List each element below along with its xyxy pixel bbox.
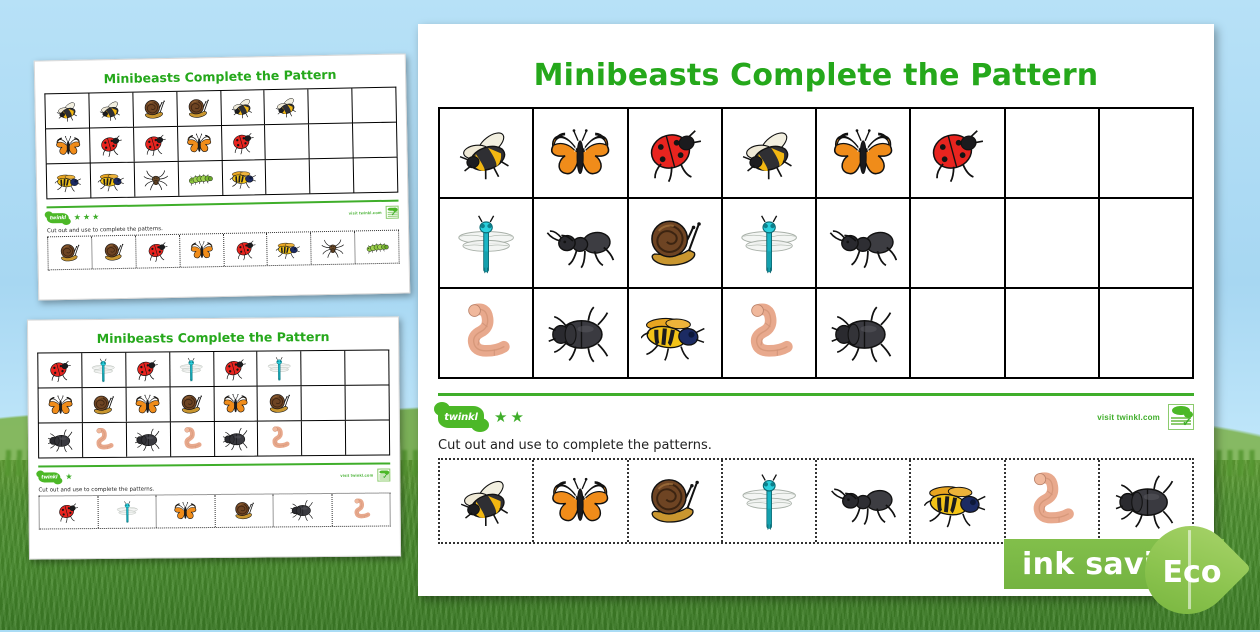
ant-icon <box>830 468 896 534</box>
wasp-icon <box>228 163 260 191</box>
pattern-cell-dragonfly[interactable] <box>723 199 817 287</box>
thumbnail-2-footer: twinkl ★ visit twinkl.com ✓ <box>38 467 390 484</box>
twinkl-logo: twinkl <box>47 213 69 223</box>
butterfly-icon <box>186 237 217 263</box>
pattern-cell-empty[interactable] <box>265 124 310 159</box>
pattern-row <box>44 87 397 129</box>
cutout-cell-bee[interactable] <box>440 460 534 542</box>
beetle-icon <box>546 297 614 369</box>
twinkl-logo-text: twinkl <box>50 215 66 221</box>
snail-icon <box>139 95 171 123</box>
worm-icon <box>264 424 296 452</box>
wasp-icon <box>52 167 84 195</box>
pattern-cell-beetle[interactable] <box>817 289 911 377</box>
pattern-row <box>38 384 390 422</box>
snail-icon <box>223 498 265 524</box>
butterfly-icon <box>165 498 207 524</box>
pattern-row <box>38 419 390 458</box>
pattern-cell-spider[interactable] <box>134 162 179 197</box>
twinkl-logo-text: twinkl <box>444 412 477 423</box>
pattern-cell-ladybird[interactable] <box>126 352 170 386</box>
pattern-cell-ant[interactable] <box>817 199 911 287</box>
snail-icon <box>183 94 215 122</box>
bee-icon <box>226 93 258 121</box>
cut-instruction: Cut out and use to complete the patterns… <box>438 438 1194 453</box>
pattern-cell-empty[interactable] <box>309 123 354 158</box>
pattern-cell-snail[interactable] <box>177 91 222 126</box>
pattern-cell-butterfly[interactable] <box>39 388 83 422</box>
worm-icon <box>735 297 803 369</box>
pattern-cell-ladybird[interactable] <box>222 125 267 160</box>
footer-divider <box>438 393 1194 396</box>
thumbnail-2-pattern-grid <box>37 349 390 458</box>
ant-icon <box>546 207 614 279</box>
pattern-cell-empty[interactable] <box>346 385 389 419</box>
pattern-cell-snail[interactable] <box>82 388 126 422</box>
footer-divider <box>38 462 390 467</box>
pattern-cell-dragonfly[interactable] <box>170 352 214 386</box>
pattern-cell-empty[interactable] <box>911 289 1005 377</box>
bee-icon <box>51 97 83 125</box>
bee-icon <box>270 93 302 121</box>
snail-icon <box>641 468 707 534</box>
caterpillar-icon <box>184 164 216 192</box>
pattern-cell-empty[interactable] <box>354 158 398 193</box>
butterfly-icon <box>44 391 76 419</box>
butterfly-icon <box>52 132 84 160</box>
main-footer: twinkl ★★ visit twinkl.com ✓ <box>438 402 1194 432</box>
worm-icon <box>1018 468 1084 534</box>
pattern-cell-butterfly[interactable] <box>126 387 170 421</box>
pattern-cell-bee[interactable] <box>89 93 134 128</box>
snail-icon <box>176 390 208 418</box>
main-worksheet[interactable]: Minibeasts Complete the Pattern <box>418 24 1214 596</box>
pattern-cell-dragonfly[interactable] <box>82 353 126 387</box>
pattern-row <box>37 349 389 387</box>
cutout-cell-ladybird[interactable] <box>40 496 99 529</box>
dragonfly-icon <box>88 356 120 384</box>
twinkl-logo-text: twinkl <box>41 474 57 480</box>
pattern-cell-beetle[interactable] <box>534 289 628 377</box>
pattern-cell-empty[interactable] <box>309 88 354 123</box>
pattern-cell-butterfly[interactable] <box>214 387 258 421</box>
pattern-cell-ladybird[interactable] <box>214 352 258 386</box>
ladybird-icon <box>227 128 259 156</box>
snail-icon <box>264 389 296 417</box>
bee-icon <box>735 117 803 189</box>
ant-icon <box>829 207 897 279</box>
twinkl-approved-badge: ✓ <box>377 468 390 481</box>
pattern-row <box>438 107 1194 197</box>
pattern-cell-empty[interactable] <box>1006 199 1100 287</box>
ladybird-icon <box>44 356 76 384</box>
pattern-cell-empty[interactable] <box>1100 109 1192 197</box>
difficulty-stars: ★ <box>65 473 74 481</box>
wasp-icon <box>96 166 128 194</box>
thumbnail-1-title: Minibeasts Complete the Pattern <box>44 66 396 88</box>
pattern-cell-bee[interactable] <box>221 90 266 125</box>
check-icon: ✓ <box>382 472 388 480</box>
worm-icon <box>340 497 382 523</box>
twinkl-approved-badge: ✓ <box>386 205 399 218</box>
cutout-cell-ant[interactable] <box>817 460 911 542</box>
pattern-cell-ladybird[interactable] <box>911 109 1005 197</box>
dragonfly-icon <box>452 207 520 279</box>
pattern-cell-worm[interactable] <box>258 421 302 455</box>
thumbnail-2-title: Minibeasts Complete the Pattern <box>37 328 389 346</box>
cutout-cell-butterfly[interactable] <box>156 495 215 528</box>
pattern-cell-caterpillar[interactable] <box>178 161 223 196</box>
ladybird-icon <box>48 499 90 525</box>
ladybird-icon <box>230 236 261 262</box>
difficulty-stars: ★★★ <box>74 213 102 222</box>
butterfly-icon <box>829 117 897 189</box>
worksheet-thumbnail-1[interactable]: Minibeasts Complete the Pattern <box>34 53 411 300</box>
cutout-cell-caterpillar[interactable] <box>355 231 398 264</box>
pattern-cell-empty[interactable] <box>352 88 396 123</box>
pattern-cell-ladybird[interactable] <box>90 128 135 163</box>
worm-icon <box>88 426 120 454</box>
pattern-cell-empty[interactable] <box>1006 289 1100 377</box>
cutout-cell-snail[interactable] <box>215 494 274 527</box>
footer-spacer <box>101 213 348 218</box>
pattern-cell-snail[interactable] <box>629 199 723 287</box>
badge-blob-icon <box>1172 406 1190 415</box>
cutout-cell-spider[interactable] <box>311 231 355 264</box>
twinkl-approved-badge: ✓ <box>1168 404 1194 430</box>
beetle-icon <box>1113 468 1179 534</box>
pattern-cell-empty[interactable] <box>301 351 345 385</box>
pattern-cell-worm[interactable] <box>83 423 127 457</box>
cutout-cell-ladybird[interactable] <box>136 235 180 268</box>
eco-leaf-label: Eco <box>1154 555 1230 590</box>
pattern-cell-butterfly[interactable] <box>534 109 628 197</box>
pattern-cell-empty[interactable] <box>310 158 355 193</box>
pattern-cell-dragonfly[interactable] <box>440 199 534 287</box>
cutout-cell-beetle[interactable] <box>273 494 332 527</box>
wasp-icon <box>924 468 990 534</box>
bee-icon <box>95 96 127 124</box>
beetle-icon <box>220 425 252 453</box>
beetle-icon <box>132 425 164 453</box>
pattern-cell-empty[interactable] <box>1100 289 1192 377</box>
check-icon: ✓ <box>391 209 397 217</box>
pattern-row <box>46 157 399 200</box>
cutout-cell-wasp[interactable] <box>267 232 311 265</box>
worksheet-thumbnail-2[interactable]: Minibeasts Complete the Pattern <box>27 316 401 559</box>
pattern-cell-wasp[interactable] <box>222 160 267 195</box>
snail-icon <box>88 391 120 419</box>
check-icon: ✓ <box>1182 415 1192 429</box>
pattern-cell-empty[interactable] <box>302 386 346 420</box>
page-title: Minibeasts Complete the Pattern <box>438 58 1194 93</box>
pattern-cell-butterfly[interactable] <box>46 129 91 164</box>
wasp-icon <box>274 236 305 262</box>
cutout-cell-dragonfly[interactable] <box>98 496 157 529</box>
wasp-icon <box>641 297 709 369</box>
pattern-cell-bee[interactable] <box>45 94 90 129</box>
thumbnail-1-cutout-strip <box>47 230 400 271</box>
bee-icon <box>452 117 520 189</box>
cutout-cell-snail[interactable] <box>92 236 136 269</box>
pattern-cell-wasp[interactable] <box>629 289 723 377</box>
visit-link[interactable]: visit twinkl.com <box>349 209 382 215</box>
snail-icon <box>54 240 85 266</box>
cutout-cell-snail[interactable] <box>48 237 92 270</box>
pattern-cell-snail[interactable] <box>258 386 302 420</box>
pattern-cell-empty[interactable] <box>346 420 389 454</box>
pattern-cell-snail[interactable] <box>170 387 214 421</box>
pattern-cell-empty[interactable] <box>353 123 397 158</box>
spider-icon <box>140 165 172 193</box>
pattern-cell-worm[interactable] <box>723 289 817 377</box>
ladybird-icon <box>96 131 128 159</box>
pattern-row <box>438 197 1194 287</box>
ladybird-icon <box>923 117 991 189</box>
butterfly-icon <box>183 129 215 157</box>
cutout-cell-wasp[interactable] <box>911 460 1005 542</box>
pattern-cell-ladybird[interactable] <box>38 353 82 387</box>
ladybird-icon <box>132 356 164 384</box>
pattern-cell-butterfly[interactable] <box>178 126 223 161</box>
cutout-cell-dragonfly[interactable] <box>723 460 817 542</box>
pattern-cell-bee[interactable] <box>265 89 310 124</box>
pattern-cell-worm[interactable] <box>170 422 214 456</box>
pattern-row <box>438 287 1194 379</box>
pattern-cell-empty[interactable] <box>345 350 388 384</box>
caterpillar-icon <box>361 234 392 260</box>
ladybird-icon <box>142 238 173 264</box>
beetle-icon <box>282 497 324 523</box>
bee-icon <box>453 468 519 534</box>
pattern-cell-ant[interactable] <box>534 199 628 287</box>
pattern-cell-bee[interactable] <box>440 109 534 197</box>
dragonfly-icon <box>735 207 803 279</box>
thumbnail-2-cutout-strip <box>38 492 390 529</box>
pattern-cell-butterfly[interactable] <box>817 109 911 197</box>
pattern-cell-snail[interactable] <box>133 92 178 127</box>
pattern-cell-bee[interactable] <box>723 109 817 197</box>
visit-link[interactable]: visit twinkl.com <box>1097 413 1160 422</box>
difficulty-stars: ★★ <box>494 410 527 425</box>
pattern-cell-worm[interactable] <box>440 289 534 377</box>
worm-icon <box>176 425 208 453</box>
pattern-cell-wasp[interactable] <box>47 164 92 199</box>
pattern-cell-beetle[interactable] <box>127 422 171 456</box>
snail-icon <box>98 239 129 265</box>
pattern-cell-beetle[interactable] <box>214 422 258 456</box>
twinkl-logo: twinkl <box>438 406 484 428</box>
pattern-cell-ladybird[interactable] <box>629 109 723 197</box>
twinkl-logo: twinkl <box>38 472 60 482</box>
footer-spacer <box>75 475 341 477</box>
pattern-cell-empty[interactable] <box>1006 109 1100 197</box>
butterfly-icon <box>220 390 252 418</box>
pattern-cell-empty[interactable] <box>266 159 311 194</box>
beetle-icon <box>829 297 897 369</box>
pattern-row <box>45 122 398 164</box>
pattern-cell-dragonfly[interactable] <box>258 351 302 385</box>
pattern-cell-empty[interactable] <box>911 199 1005 287</box>
ink-saving-eco-badge: ink saving Eco <box>1004 527 1260 599</box>
dragonfly-icon <box>106 499 148 525</box>
cutout-cell-butterfly[interactable] <box>534 460 628 542</box>
pattern-cell-beetle[interactable] <box>39 423 83 457</box>
spider-icon <box>317 235 348 261</box>
dragonfly-icon <box>263 354 295 382</box>
cutout-cell-butterfly[interactable] <box>180 234 224 267</box>
beetle-icon <box>44 426 76 454</box>
main-pattern-grid <box>438 107 1194 379</box>
pattern-cell-wasp[interactable] <box>91 163 136 198</box>
ladybird-icon <box>641 117 709 189</box>
cutout-cell-ladybird[interactable] <box>224 233 268 266</box>
butterfly-icon <box>547 468 613 534</box>
snail-icon <box>641 207 709 279</box>
dragonfly-icon <box>175 355 207 383</box>
pattern-cell-empty[interactable] <box>302 421 346 455</box>
ladybird-icon <box>219 355 251 383</box>
butterfly-icon <box>132 391 164 419</box>
cutout-cell-worm[interactable] <box>332 493 390 526</box>
ladybird-icon <box>139 130 171 158</box>
worm-icon <box>452 297 520 369</box>
cutout-cell-snail[interactable] <box>629 460 723 542</box>
visit-link[interactable]: visit twinkl.com <box>340 472 373 477</box>
dragonfly-icon <box>736 468 802 534</box>
pattern-cell-ladybird[interactable] <box>134 127 179 162</box>
butterfly-icon <box>546 117 614 189</box>
pattern-cell-empty[interactable] <box>1100 199 1192 287</box>
thumbnail-1-pattern-grid <box>44 87 398 200</box>
